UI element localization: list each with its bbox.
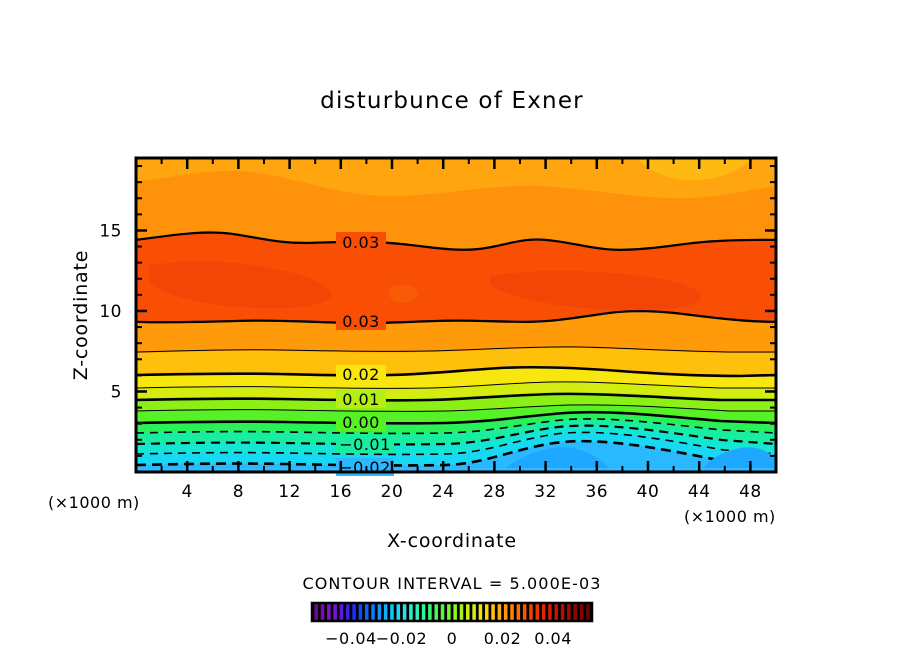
colorbar-title: CONTOUR INTERVAL = 5.000E-03 xyxy=(302,574,601,593)
contour-figure: disturbunce of Exner xyxy=(0,0,904,654)
colorbar-swatch xyxy=(321,604,325,620)
x-tick-label: 40 xyxy=(637,482,660,502)
colorbar-tick-labels: −0.04−0.0200.020.04 xyxy=(325,629,572,648)
colorbar-swatch xyxy=(352,604,356,620)
x-tick-label: 12 xyxy=(278,482,301,502)
colorbar-swatch xyxy=(415,604,419,620)
colorbar-swatch xyxy=(453,604,457,620)
x-tick-label: 20 xyxy=(381,482,404,502)
colorbar-swatch xyxy=(390,604,394,620)
colorbar-swatch xyxy=(485,604,489,620)
colorbar-swatch xyxy=(479,604,483,620)
colorbar-swatch xyxy=(529,604,533,620)
y-tick-label: 5 xyxy=(111,382,122,402)
colorbar-swatch xyxy=(536,604,540,620)
x-tick-label: 28 xyxy=(483,482,506,502)
colorbar-tick-label: 0.02 xyxy=(484,629,522,648)
x-tick-label: 24 xyxy=(432,482,455,502)
colorbar-swatches xyxy=(313,604,591,620)
contour-label-text: 0.02 xyxy=(342,365,380,384)
colorbar-swatch xyxy=(333,604,337,620)
colorbar-swatch xyxy=(359,604,363,620)
colorbar-swatch xyxy=(504,604,508,620)
contour-label-text: 0.03 xyxy=(342,312,380,331)
contour-label-item: 0.00 xyxy=(336,413,386,432)
y-tick-label: 15 xyxy=(99,221,122,241)
contour-label-text: 0.03 xyxy=(342,233,380,252)
colorbar-swatch xyxy=(403,604,407,620)
x-tick-label: 4 xyxy=(182,482,193,502)
colorbar-swatch xyxy=(567,604,571,620)
contour-label-item: 0.03 xyxy=(336,311,386,331)
x-axis-title: X-coordinate xyxy=(387,530,517,552)
x-tick-label: 32 xyxy=(534,482,557,502)
contour-label-item: −0.01 xyxy=(336,435,394,454)
colorbar-swatch xyxy=(314,604,318,620)
colorbar-swatch xyxy=(523,604,527,620)
y-unit-label: (×1000 m) xyxy=(48,493,140,512)
colorbar-tick-label: 0 xyxy=(447,629,458,648)
colorbar-swatch xyxy=(561,604,565,620)
x-tick-label: 44 xyxy=(688,482,711,502)
colorbar-swatch xyxy=(434,604,438,620)
colorbar-swatch xyxy=(422,604,426,620)
plot-area: 0.03 0.03 0.02 0.01 0.00 −0.01 xyxy=(99,158,776,502)
y-axis-title: Z-coordinate xyxy=(70,250,92,380)
colorbar-swatch xyxy=(491,604,495,620)
colorbar-tick-label: −0.04 xyxy=(325,629,377,648)
contour-label-text: 0.00 xyxy=(342,413,380,432)
colorbar-swatch xyxy=(580,604,584,620)
colorbar: CONTOUR INTERVAL = 5.000E-03 −0.04−0.020… xyxy=(302,574,601,648)
x-unit-label: (×1000 m) xyxy=(684,507,776,526)
contour-label-item: 0.03 xyxy=(336,232,386,252)
colorbar-swatch xyxy=(542,604,546,620)
y-tick-label: 10 xyxy=(99,302,122,322)
colorbar-swatch xyxy=(498,604,502,620)
colorbar-swatch xyxy=(327,604,331,620)
colorbar-swatch xyxy=(548,604,552,620)
colorbar-swatch xyxy=(573,604,577,620)
colorbar-swatch xyxy=(409,604,413,620)
colorbar-swatch xyxy=(472,604,476,620)
colorbar-swatch xyxy=(554,604,558,620)
x-tick-label: 48 xyxy=(739,482,762,502)
colorbar-swatch xyxy=(371,604,375,620)
colorbar-swatch xyxy=(378,604,382,620)
colorbar-swatch xyxy=(428,604,432,620)
x-tick-label: 16 xyxy=(329,482,352,502)
colorbar-swatch xyxy=(346,604,350,620)
colorbar-swatch xyxy=(586,604,590,620)
contour-label-item: −0.02 xyxy=(336,458,394,477)
colorbar-swatch xyxy=(340,604,344,620)
x-tick-label: 8 xyxy=(233,482,244,502)
contour-label-text: −0.02 xyxy=(339,458,391,477)
colorbar-swatch xyxy=(460,604,464,620)
colorbar-tick-label: −0.02 xyxy=(376,629,428,648)
colorbar-swatch xyxy=(510,604,514,620)
colorbar-swatch xyxy=(466,604,470,620)
x-tick-label: 36 xyxy=(585,482,608,502)
colorbar-swatch xyxy=(397,604,401,620)
colorbar-swatch xyxy=(447,604,451,620)
contour-label-item: 0.01 xyxy=(336,390,386,409)
contour-label-item: 0.02 xyxy=(336,365,386,384)
page-title: disturbunce of Exner xyxy=(320,88,584,114)
contour-label-text: −0.01 xyxy=(339,435,391,454)
colorbar-swatch xyxy=(384,604,388,620)
contour-fill xyxy=(136,158,776,472)
colorbar-swatch xyxy=(365,604,369,620)
colorbar-swatch xyxy=(441,604,445,620)
colorbar-swatch xyxy=(517,604,521,620)
colorbar-tick-label: 0.04 xyxy=(534,629,572,648)
contour-label-text: 0.01 xyxy=(342,390,380,409)
